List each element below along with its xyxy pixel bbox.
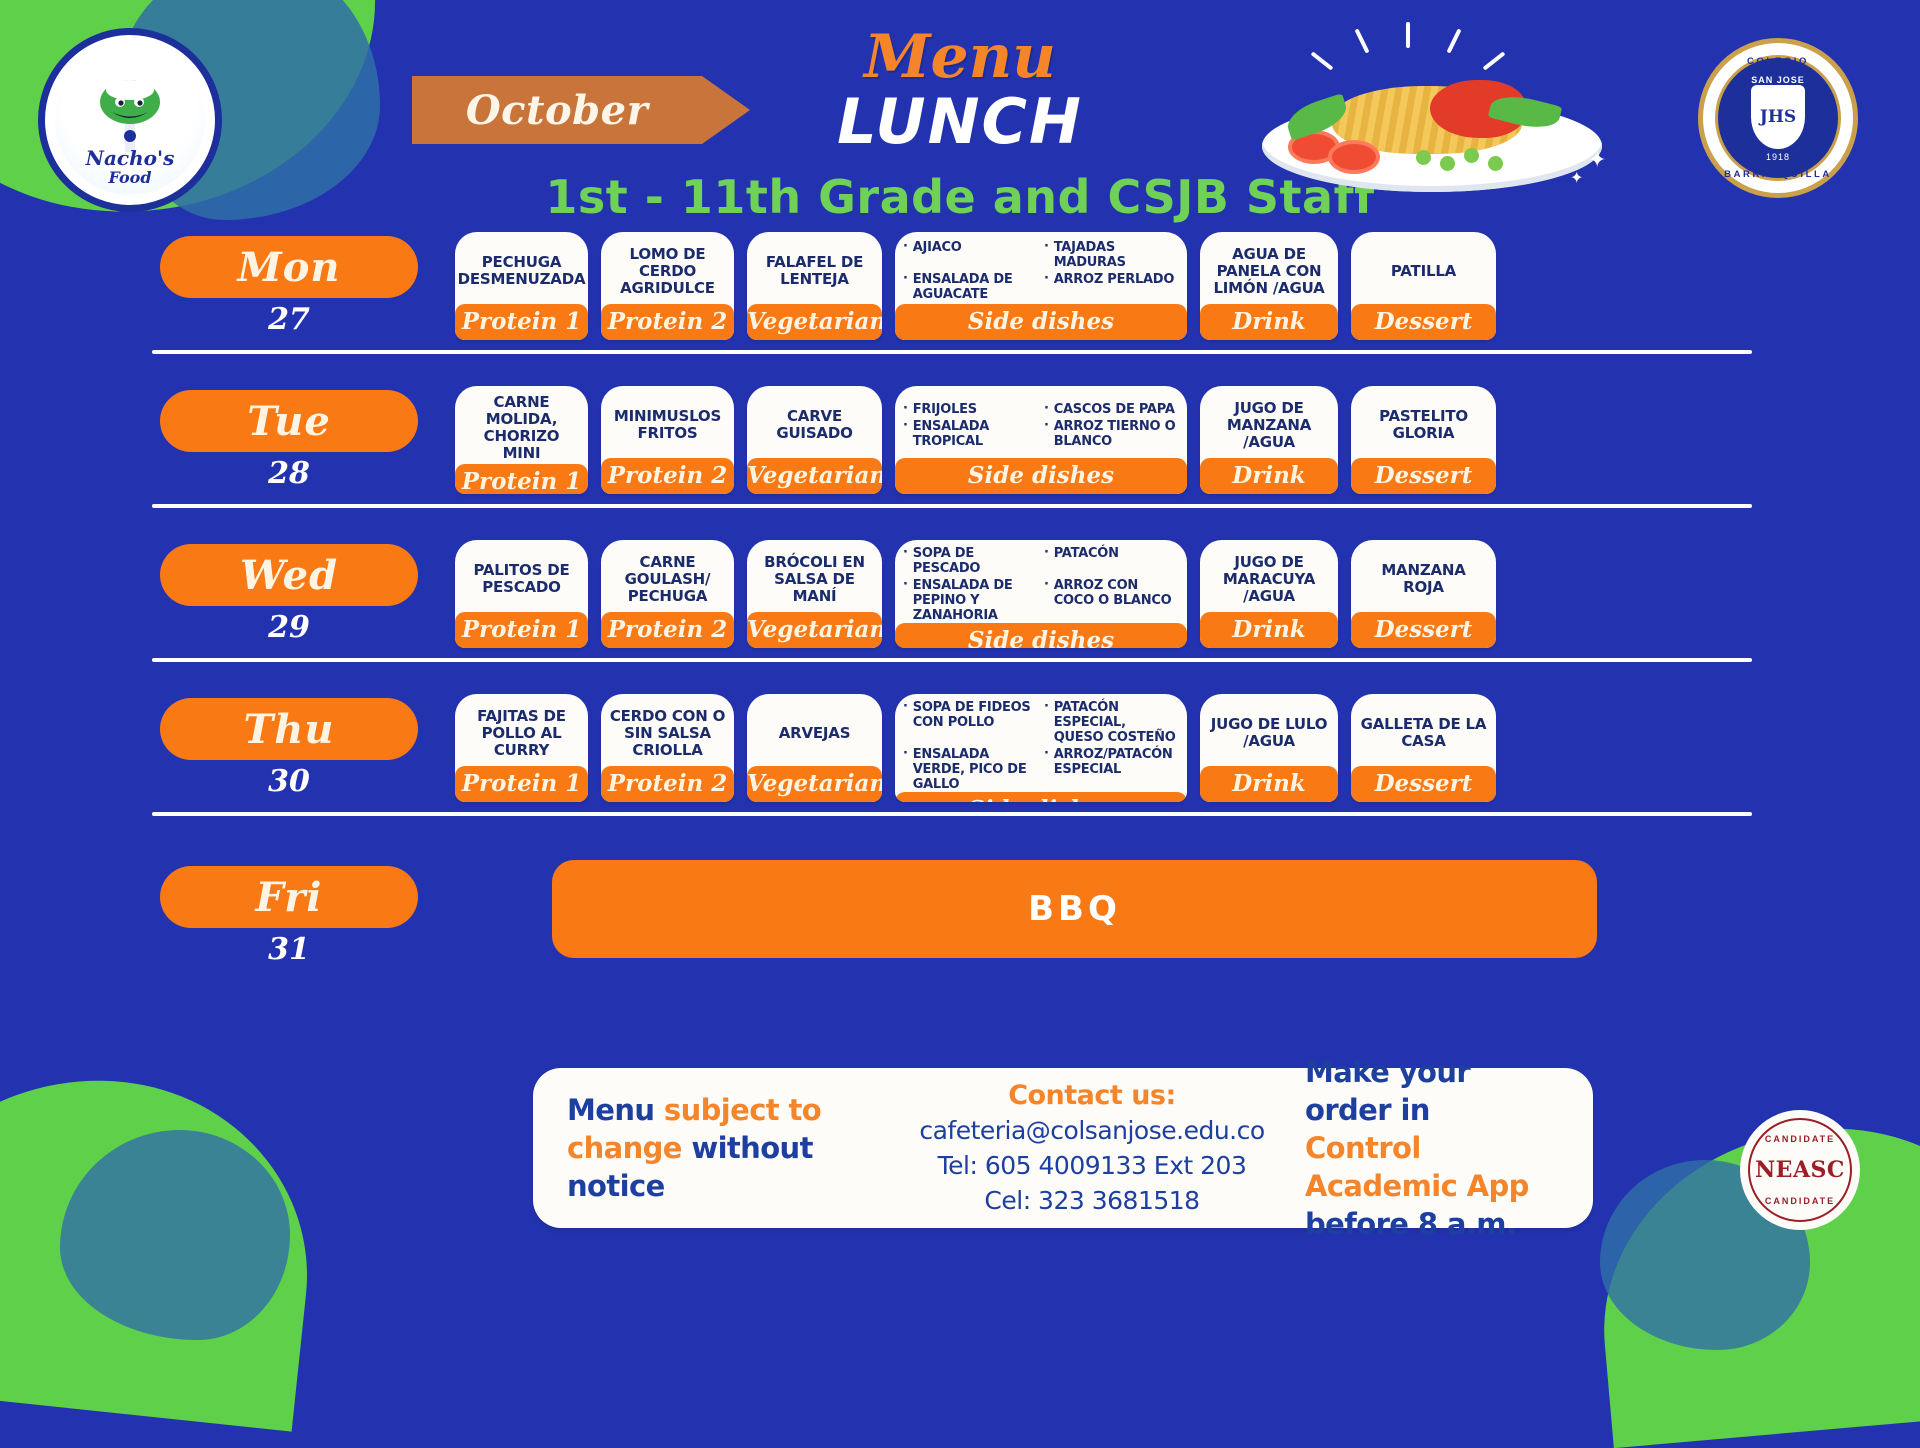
day-date-wed: 29 <box>160 610 418 645</box>
bullet-icon: · <box>1044 546 1049 559</box>
menu-card-drink-mon[interactable]: AGUA DE PANELA CON LIMÓN /AGUA Drink <box>1200 232 1338 340</box>
page-header: Nacho's Food October Menu LUNCH 1st - 11… <box>0 0 1920 225</box>
menu-row-fri: Fri 31 BBQ <box>0 848 1920 1008</box>
bullet-icon: · <box>903 747 908 760</box>
dish-vegetarian-mon: FALAFEL DE LENTEJA <box>755 254 874 288</box>
day-date-tue: 28 <box>160 456 418 491</box>
day-pill-mon: Mon <box>160 236 418 298</box>
bullet-icon: · <box>1044 240 1049 253</box>
row-divider <box>152 504 1752 508</box>
tag-protein1: Protein 1 <box>455 464 588 494</box>
tag-protein1: Protein 1 <box>455 304 588 340</box>
row-divider <box>152 350 1752 354</box>
dish-drink-wed: JUGO DE MARACUYA /AGUA <box>1208 554 1330 605</box>
menu-row-thu: Thu 30 FAJITAS DE POLLO AL CURRY Protein… <box>0 694 1920 848</box>
footer-cel[interactable]: Cel: 323 3681518 <box>897 1183 1287 1218</box>
bbq-banner[interactable]: BBQ <box>552 860 1597 958</box>
menu-card-protein1-tue[interactable]: CARNE MOLIDA, CHORIZO MINI Protein 1 <box>455 386 588 494</box>
footer-order-line3: before 8 a.m. <box>1305 1205 1559 1243</box>
day-name-wed: Wed <box>240 552 338 599</box>
tag-side-dishes: Side dishes <box>895 623 1187 648</box>
bullet-icon: · <box>903 419 908 432</box>
footer-info-box: Menu subject to change without notice Co… <box>533 1068 1593 1228</box>
day-date-fri: 31 <box>160 932 418 967</box>
school-center-text: SAN JOSE <box>1751 75 1805 85</box>
side-dish-item: ·ENSALADA DE PEPINO Y ZANAHORIA <box>903 578 1038 623</box>
dish-protein2-thu: CERDO CON O SIN SALSA CRIOLLA <box>609 708 726 759</box>
footer-order-info: Make your order in Control Academic App … <box>1287 1053 1559 1243</box>
tag-side-dishes: Side dishes <box>895 792 1187 802</box>
dish-protein1-wed: PALITOS DE PESCADO <box>463 562 580 596</box>
side-dish-item: ·AJIACO <box>903 240 1038 270</box>
menu-card-sides-tue[interactable]: ·FRIJOLES ·CASCOS DE PAPA ·ENSALADA TROP… <box>895 386 1187 494</box>
school-inner-crest: SAN JOSE JHS 1918 <box>1715 55 1841 181</box>
tag-drink: Drink <box>1200 458 1338 494</box>
bullet-icon: · <box>1044 700 1049 713</box>
neasc-ring: CANDIDATE NEASC CANDIDATE <box>1748 1118 1852 1222</box>
dish-protein2-wed: CARNE GOULASH/ PECHUGA <box>609 554 726 605</box>
day-date-mon: 27 <box>160 302 418 337</box>
side-dishes-list-mon: ·AJIACO ·TAJADAS MADURAS ·ENSALADA DE AG… <box>895 232 1187 304</box>
dish-dessert-tue: PASTELITO GLORIA <box>1359 408 1488 442</box>
menu-card-sides-thu[interactable]: ·SOPA DE FIDEOS CON POLLO ·PATACÓN ESPEC… <box>895 694 1187 802</box>
day-name-mon: Mon <box>237 244 340 291</box>
dish-dessert-wed: MANZANA ROJA <box>1359 562 1488 596</box>
tag-protein2: Protein 2 <box>601 304 734 340</box>
day-pill-thu: Thu <box>160 698 418 760</box>
bullet-icon: · <box>1044 402 1049 415</box>
side-dish-item: ·ARROZ PERLADO <box>1044 272 1179 302</box>
weekly-menu-grid: Mon 27 PECHUGA DESMENUZADA Protein 1 LOM… <box>0 232 1920 1008</box>
menu-cards-thu: FAJITAS DE POLLO AL CURRY Protein 1 CERD… <box>455 694 1496 802</box>
footer-email[interactable]: cafeteria@colsanjose.edu.co <box>897 1113 1287 1148</box>
tag-dessert: Dessert <box>1351 766 1496 802</box>
bullet-icon: · <box>903 546 908 559</box>
day-pill-tue: Tue <box>160 390 418 452</box>
crest-shield-icon: JHS <box>1751 85 1805 149</box>
day-pill-wed: Wed <box>160 544 418 606</box>
tag-dessert: Dessert <box>1351 458 1496 494</box>
side-dish-item: ·ENSALADA VERDE, PICO DE GALLO <box>903 747 1038 792</box>
tag-side-dishes: Side dishes <box>895 304 1187 340</box>
row-divider <box>152 658 1752 662</box>
dish-drink-tue: JUGO DE MANZANA /AGUA <box>1208 400 1330 451</box>
tag-protein2: Protein 2 <box>601 612 734 648</box>
school-city: BARRANQUILLA <box>1703 169 1853 180</box>
side-dish-item: ·ARROZ TIERNO O BLANCO <box>1044 419 1179 449</box>
side-dish-item: ·CASCOS DE PAPA <box>1044 402 1179 417</box>
bullet-icon: · <box>1044 419 1049 432</box>
menu-card-protein1-thu[interactable]: FAJITAS DE POLLO AL CURRY Protein 1 <box>455 694 588 802</box>
footer-notice-part1: Menu <box>567 1093 664 1127</box>
menu-card-protein1-wed[interactable]: PALITOS DE PESCADO Protein 1 <box>455 540 588 648</box>
dish-vegetarian-tue: CARVE GUISADO <box>755 408 874 442</box>
side-dish-item: ·ARROZ CON COCO O BLANCO <box>1044 578 1179 623</box>
menu-row-tue: Tue 28 CARNE MOLIDA, CHORIZO MINI Protei… <box>0 386 1920 540</box>
bullet-icon: · <box>903 700 908 713</box>
bbq-label: BBQ <box>1028 889 1121 929</box>
bullet-icon: · <box>903 240 908 253</box>
footer-contact-title: Contact us: <box>897 1078 1287 1113</box>
day-name-thu: Thu <box>244 706 335 753</box>
footer-contact: Contact us: cafeteria@colsanjose.edu.co … <box>897 1078 1287 1218</box>
menu-card-drink-thu[interactable]: JUGO DE LULO /AGUA Drink <box>1200 694 1338 802</box>
day-date-thu: 30 <box>160 764 418 799</box>
day-name-fri: Fri <box>256 874 323 921</box>
day-name-tue: Tue <box>247 398 331 445</box>
dish-protein2-tue: MINIMUSLOS FRITOS <box>609 408 726 442</box>
side-dish-item: ·SOPA DE PESCADO <box>903 546 1038 576</box>
tag-drink: Drink <box>1200 766 1338 802</box>
tag-dessert: Dessert <box>1351 612 1496 648</box>
tag-protein2: Protein 2 <box>601 766 734 802</box>
dish-protein1-tue: CARNE MOLIDA, CHORIZO MINI <box>463 394 580 462</box>
dish-drink-mon: AGUA DE PANELA CON LIMÓN /AGUA <box>1208 246 1330 297</box>
bullet-icon: · <box>903 272 908 285</box>
bullet-icon: · <box>903 402 908 415</box>
dish-protein1-mon: PECHUGA DESMENUZADA <box>458 254 586 288</box>
menu-card-sides-mon[interactable]: ·AJIACO ·TAJADAS MADURAS ·ENSALADA DE AG… <box>895 232 1187 340</box>
tag-dessert: Dessert <box>1351 304 1496 340</box>
dish-dessert-mon: PATILLA <box>1391 263 1456 280</box>
footer-notice: Menu subject to change without notice <box>567 1091 897 1205</box>
menu-card-dessert-mon[interactable]: PATILLA Dessert <box>1351 232 1496 340</box>
side-dish-item: ·ARROZ/PATACÓN ESPECIAL <box>1044 747 1179 792</box>
menu-card-dessert-tue[interactable]: PASTELITO GLORIA Dessert <box>1351 386 1496 494</box>
tag-drink: Drink <box>1200 612 1338 648</box>
side-dish-item: ·ENSALADA TROPICAL <box>903 419 1038 449</box>
neasc-accreditation-logo: CANDIDATE NEASC CANDIDATE <box>1740 1110 1860 1230</box>
menu-row-wed: Wed 29 PALITOS DE PESCADO Protein 1 CARN… <box>0 540 1920 694</box>
school-year: 1918 <box>1766 152 1790 162</box>
menu-card-vegetarian-thu[interactable]: ARVEJAS Vegetarian <box>747 694 882 802</box>
dish-dessert-thu: GALLETA DE LA CASA <box>1359 716 1488 750</box>
dish-protein2-mon: LOMO DE CERDO AGRIDULCE <box>609 246 726 297</box>
menu-card-protein2-mon[interactable]: LOMO DE CERDO AGRIDULCE Protein 2 <box>601 232 734 340</box>
menu-card-vegetarian-mon[interactable]: FALAFEL DE LENTEJA Vegetarian <box>747 232 882 340</box>
side-dish-item: ·TAJADAS MADURAS <box>1044 240 1179 270</box>
crest-monogram: JHS <box>1760 107 1796 127</box>
pasta-plate-icon: ✦ ✦ ✦ <box>1240 28 1640 203</box>
dish-vegetarian-thu: ARVEJAS <box>779 725 851 742</box>
side-dish-item: ·SOPA DE FIDEOS CON POLLO <box>903 700 1038 745</box>
menu-card-drink-wed[interactable]: JUGO DE MARACUYA /AGUA Drink <box>1200 540 1338 648</box>
tag-protein1: Protein 1 <box>455 766 588 802</box>
footer-tel[interactable]: Tel: 605 4009133 Ext 203 <box>897 1148 1287 1183</box>
neasc-top-text: CANDIDATE <box>1750 1134 1850 1144</box>
menu-cards-tue: CARNE MOLIDA, CHORIZO MINI Protein 1 MIN… <box>455 386 1496 494</box>
menu-card-dessert-wed[interactable]: MANZANA ROJA Dessert <box>1351 540 1496 648</box>
side-dish-item: ·PATACÓN <box>1044 546 1179 576</box>
menu-card-protein2-thu[interactable]: CERDO CON O SIN SALSA CRIOLLA Protein 2 <box>601 694 734 802</box>
side-dish-item: ·PATACÓN ESPECIAL, QUESO COSTEÑO <box>1044 700 1179 745</box>
tag-vegetarian: Vegetarian <box>747 766 882 802</box>
menu-card-vegetarian-tue[interactable]: CARVE GUISADO Vegetarian <box>747 386 882 494</box>
menu-cards-mon: PECHUGA DESMENUZADA Protein 1 LOMO DE CE… <box>455 232 1496 340</box>
side-dish-item: ·FRIJOLES <box>903 402 1038 417</box>
side-dish-item: ·ENSALADA DE AGUACATE <box>903 272 1038 302</box>
menu-row-mon: Mon 27 PECHUGA DESMENUZADA Protein 1 LOM… <box>0 232 1920 386</box>
side-dishes-list-wed: ·SOPA DE PESCADO ·PATACÓN ·ENSALADA DE P… <box>895 540 1187 623</box>
menu-card-drink-tue[interactable]: JUGO DE MANZANA /AGUA Drink <box>1200 386 1338 494</box>
dish-protein1-thu: FAJITAS DE POLLO AL CURRY <box>463 708 580 759</box>
decor-blob-bottom-left-green <box>0 1058 326 1431</box>
school-name-top: COLEGIO <box>1703 56 1853 67</box>
menu-card-sides-wed[interactable]: ·SOPA DE PESCADO ·PATACÓN ·ENSALADA DE P… <box>895 540 1187 648</box>
tag-protein2: Protein 2 <box>601 458 734 494</box>
menu-card-protein2-tue[interactable]: MINIMUSLOS FRITOS Protein 2 <box>601 386 734 494</box>
tag-side-dishes: Side dishes <box>895 458 1187 494</box>
bullet-icon: · <box>903 578 908 591</box>
bullet-icon: · <box>1044 272 1049 285</box>
tag-vegetarian: Vegetarian <box>747 458 882 494</box>
neasc-name: NEASC <box>1755 1157 1845 1183</box>
day-pill-fri: Fri <box>160 866 418 928</box>
side-dishes-list-thu: ·SOPA DE FIDEOS CON POLLO ·PATACÓN ESPEC… <box>895 694 1187 792</box>
tag-vegetarian: Vegetarian <box>747 612 882 648</box>
bullet-icon: · <box>1044 578 1049 591</box>
footer-order-line1: Make your order in <box>1305 1053 1559 1129</box>
menu-card-protein1-mon[interactable]: PECHUGA DESMENUZADA Protein 1 <box>455 232 588 340</box>
menu-card-protein2-wed[interactable]: CARNE GOULASH/ PECHUGA Protein 2 <box>601 540 734 648</box>
tag-protein1: Protein 1 <box>455 612 588 648</box>
side-dishes-list-tue: ·FRIJOLES ·CASCOS DE PAPA ·ENSALADA TROP… <box>895 386 1187 458</box>
bullet-icon: · <box>1044 747 1049 760</box>
school-crest-logo: COLEGIO SAN JOSE JHS 1918 BARRANQUILLA <box>1698 38 1858 198</box>
decor-blob-bottom-left-teal <box>60 1130 290 1340</box>
tag-vegetarian: Vegetarian <box>747 304 882 340</box>
neasc-bottom-text: CANDIDATE <box>1750 1196 1850 1206</box>
row-divider <box>152 812 1752 816</box>
footer-order-app: Control Academic App <box>1305 1129 1559 1205</box>
menu-card-vegetarian-wed[interactable]: BRÓCOLI EN SALSA DE MANÍ Vegetarian <box>747 540 882 648</box>
dish-drink-thu: JUGO DE LULO /AGUA <box>1208 716 1330 750</box>
dish-vegetarian-wed: BRÓCOLI EN SALSA DE MANÍ <box>755 554 874 605</box>
tag-drink: Drink <box>1200 304 1338 340</box>
menu-cards-wed: PALITOS DE PESCADO Protein 1 CARNE GOULA… <box>455 540 1496 648</box>
menu-card-dessert-thu[interactable]: GALLETA DE LA CASA Dessert <box>1351 694 1496 802</box>
